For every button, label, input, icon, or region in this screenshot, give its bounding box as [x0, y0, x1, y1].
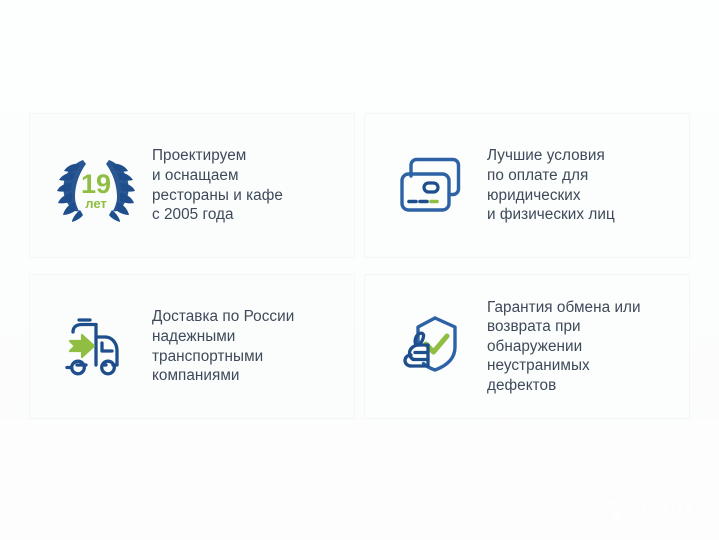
wreath-unit: лет — [85, 196, 107, 211]
avito-watermark-label: Avito — [637, 495, 701, 522]
benefit-card-payment: Лучшие условия по оплате для юридических… — [364, 113, 690, 258]
benefit-card-guarantee: Гарантия обмена или возврата при обнаруж… — [364, 274, 690, 419]
benefit-text-guarantee: Гарантия обмена или возврата при обнаруж… — [483, 298, 679, 396]
wreath-number: 19 — [81, 169, 111, 199]
benefit-text-payment: Лучшие условия по оплате для юридических… — [483, 146, 679, 224]
thumbs-up-shield-check-icon — [379, 299, 483, 395]
benefit-text-experience: Проектируем и оснащаем рестораны и кафе … — [148, 146, 344, 224]
bottom-whitespace-band — [0, 420, 719, 540]
benefit-card-delivery: Доставка по России надежными транспортны… — [29, 274, 355, 419]
delivery-truck-icon — [44, 299, 148, 395]
page-canvas: 19 лет Проектируем и оснащаем рестораны … — [0, 0, 719, 540]
benefit-card-experience: 19 лет Проектируем и оснащаем рестораны … — [29, 113, 355, 258]
avito-logo-icon — [607, 497, 632, 521]
benefit-text-delivery: Доставка по России надежными транспортны… — [148, 307, 344, 385]
avito-watermark: Avito — [607, 495, 701, 522]
laurel-wreath-icon: 19 лет — [44, 138, 148, 234]
credit-cards-icon — [379, 138, 483, 234]
top-whitespace-band — [0, 0, 719, 112]
benefits-grid: 19 лет Проектируем и оснащаем рестораны … — [29, 113, 690, 419]
